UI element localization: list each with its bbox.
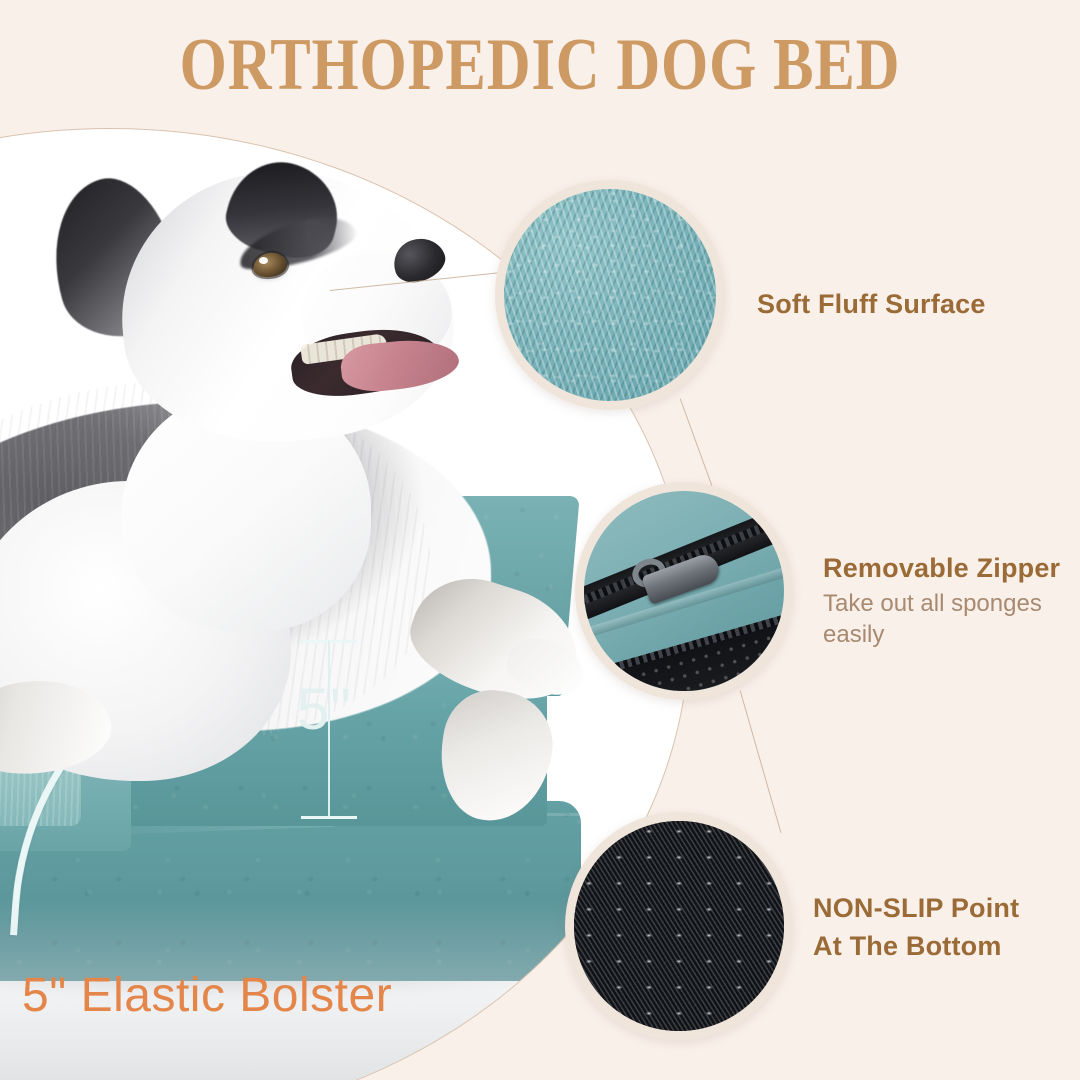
callout-title-line2: At The Bottom <box>813 928 1019 966</box>
measure-cap-bottom <box>301 816 357 819</box>
callout-title: Removable Zipper <box>823 552 1073 586</box>
dog-eye-highlight <box>259 257 268 264</box>
fluff-fabric-swatch <box>504 189 716 401</box>
bolster-caption: 5" Elastic Bolster <box>22 968 392 1023</box>
callout-subtitle: Take out all sponges easily <box>823 588 1073 650</box>
connector-line-callout-2-to-3 <box>739 691 781 834</box>
page-title: ORTHOPEDIC DOG BED <box>97 28 983 102</box>
callout-title: NON-SLIP Point <box>813 890 1019 928</box>
callout-label-non-slip: NON-SLIP Point At The Bottom <box>813 890 1019 966</box>
callout-label-removable-zipper: Removable Zipper Take out all sponges ea… <box>823 552 1073 650</box>
non-slip-fabric-swatch <box>574 821 784 1031</box>
callout-circle-non-slip <box>565 812 793 1040</box>
zipper-fabric-swatch <box>584 491 784 691</box>
infographic-canvas: ORTHOPEDIC DOG BED <box>0 0 1080 1080</box>
callout-label-soft-fluff: Soft Fluff Surface <box>757 288 986 322</box>
measure-label: 5" <box>297 681 352 739</box>
callout-title: Soft Fluff Surface <box>757 288 986 322</box>
callout-circle-soft-fluff <box>495 180 725 410</box>
callout-circle-removable-zipper <box>575 482 793 700</box>
dog-paw-lower <box>432 684 559 828</box>
